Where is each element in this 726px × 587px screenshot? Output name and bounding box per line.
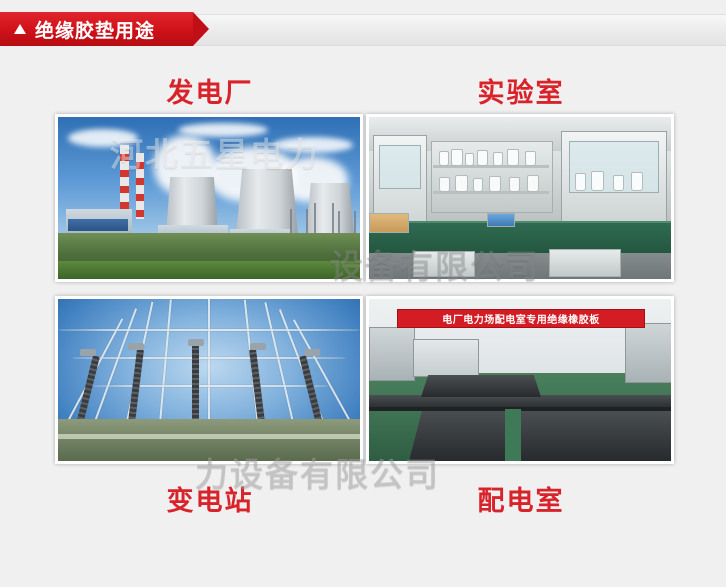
- glassware: [493, 152, 503, 166]
- cloud-shape: [273, 137, 353, 153]
- triangle-up-icon: [14, 24, 26, 34]
- glassware: [439, 177, 450, 192]
- caption-power-plant: 发电厂: [55, 74, 365, 114]
- hood-sash-glass: [379, 145, 421, 189]
- caption-laboratory: 实验室: [366, 74, 676, 114]
- glassware: [631, 172, 643, 191]
- ground-path: [58, 434, 360, 439]
- ground-strip: [58, 419, 360, 461]
- photo-distribution-room: 电厂电力场配电室专用绝缘橡胶板: [366, 296, 674, 464]
- cell-laboratory: 实验室: [366, 74, 676, 282]
- lab-bench: [369, 221, 671, 253]
- rubber-mat: [409, 409, 505, 461]
- caption-distribution-room: 配电室: [366, 482, 676, 522]
- glassware: [613, 175, 624, 191]
- photo-power-plant: [55, 114, 363, 282]
- glassware: [509, 177, 520, 192]
- insulator-cap: [188, 339, 204, 346]
- cell-substation: 变电站: [55, 296, 365, 522]
- glassware: [527, 175, 539, 192]
- cell-power-plant: 发电厂: [55, 74, 365, 282]
- floor-gap-green: [505, 409, 521, 461]
- caption-substation: 变电站: [55, 482, 365, 522]
- cooling-tower: [236, 169, 298, 235]
- overlay-banner: 电厂电力场配电室专用绝缘橡胶板: [397, 309, 645, 328]
- insulator-cap: [304, 349, 320, 356]
- bench-cabinet: [413, 251, 475, 277]
- insulator-cap: [250, 343, 266, 350]
- photo-substation: [55, 296, 363, 464]
- chimney-stack: [136, 153, 144, 219]
- switchgear-cabinet: [625, 323, 673, 383]
- insulator-cap: [80, 349, 96, 356]
- glassware: [507, 149, 519, 166]
- glassware: [477, 150, 488, 166]
- lattice-ring: [58, 329, 360, 331]
- glassware: [591, 171, 604, 191]
- chimney-stack: [120, 145, 129, 219]
- bench-equipment: [487, 213, 515, 227]
- glassware: [439, 151, 449, 166]
- insulator-cap: [128, 343, 144, 350]
- glassware: [465, 153, 474, 166]
- rubber-mat: [519, 411, 671, 461]
- cell-distribution-room: 电厂电力场配电室专用绝缘橡胶板 配电室: [366, 296, 676, 522]
- bench-box: [369, 213, 409, 233]
- overlay-banner-text: 电厂电力场配电室专用绝缘橡胶板: [442, 311, 600, 326]
- switchgear-cabinet: [369, 327, 415, 381]
- glassware: [575, 173, 586, 191]
- rubber-mat: [421, 375, 541, 397]
- lattice-strut: [208, 299, 210, 437]
- content-grid: 发电厂: [0, 56, 726, 587]
- lattice-ring: [92, 385, 328, 387]
- glassware: [451, 149, 463, 166]
- photo-laboratory: [366, 114, 674, 282]
- glassware: [473, 178, 483, 192]
- glassware: [489, 176, 501, 192]
- bench-cabinet: [549, 249, 621, 277]
- ground-strip: [58, 233, 360, 279]
- glassware: [525, 151, 536, 166]
- page-header: 绝缘胶垫用途: [0, 0, 726, 56]
- wall-panel: [413, 339, 479, 377]
- glassware: [455, 175, 468, 192]
- plant-building-blue: [68, 219, 128, 231]
- header-title-tab: 绝缘胶垫用途: [0, 12, 193, 46]
- grass-strip: [58, 261, 360, 279]
- page-title: 绝缘胶垫用途: [35, 16, 155, 43]
